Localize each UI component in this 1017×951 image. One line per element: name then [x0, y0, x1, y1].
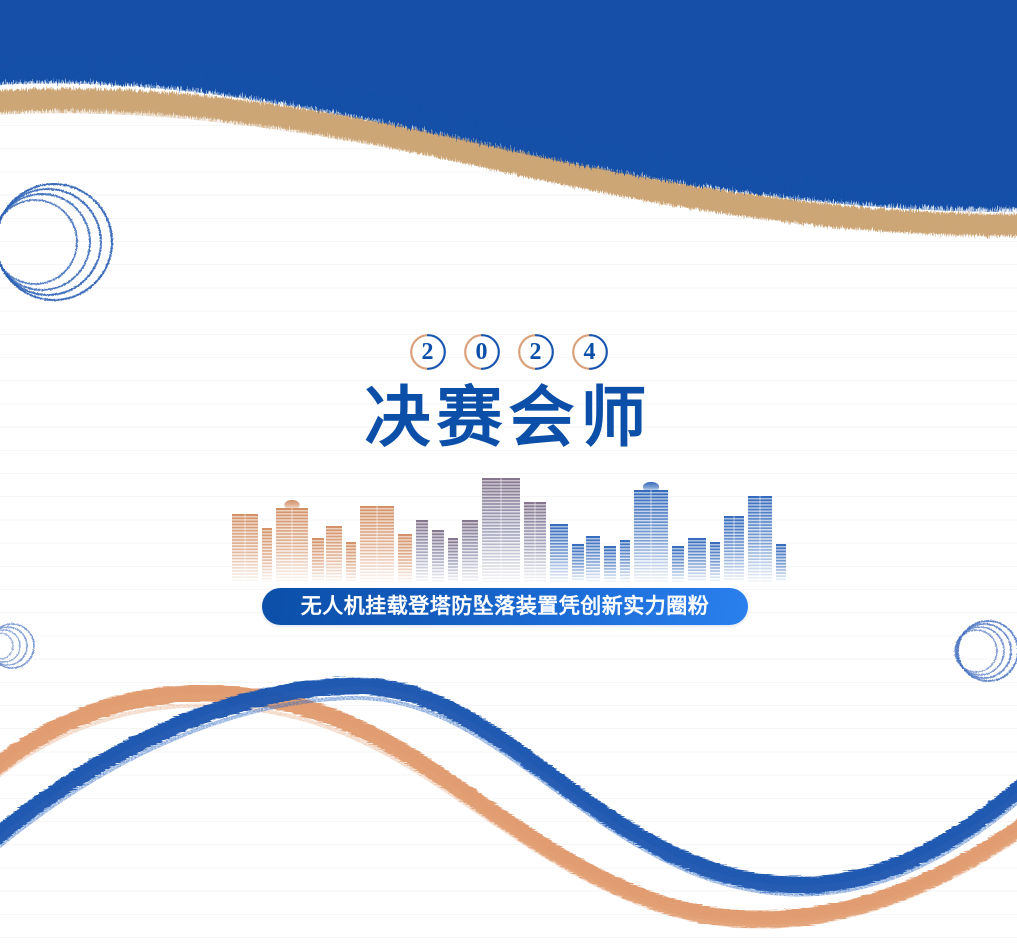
- year-2024: 2 0 2 4: [0, 328, 1017, 376]
- skyline-building: [672, 546, 685, 582]
- year-digit-1-label: 2: [422, 340, 434, 364]
- year-digit-1: 2: [409, 333, 447, 371]
- skyline-building: [312, 538, 325, 582]
- skyline-building: [748, 496, 773, 583]
- headline-banner-label: 无人机挂载登塔防坠落装置凭创新实力圈粉: [301, 596, 710, 617]
- year-digit-4-label: 4: [584, 340, 596, 364]
- year-digit-3-label: 2: [530, 340, 542, 364]
- skyline-building: [326, 526, 343, 582]
- skyline-building: [276, 500, 309, 583]
- city-skyline: [228, 470, 788, 588]
- poster-canvas: 2 0 2 4 决赛会师: [0, 0, 1017, 951]
- skyline-building: [550, 524, 569, 583]
- skyline-building: [448, 538, 459, 582]
- skyline-building: [688, 538, 707, 582]
- year-digit-4: 4: [571, 333, 609, 371]
- skyline-building: [710, 542, 721, 583]
- skyline-building: [232, 514, 259, 583]
- skyline-building: [482, 478, 521, 582]
- year-digit-3: 2: [517, 333, 555, 371]
- skyline-building: [634, 482, 669, 583]
- skyline-building: [620, 540, 631, 582]
- year-digit-2: 0: [463, 333, 501, 371]
- skyline-building: [724, 516, 745, 582]
- skyline-building: [432, 530, 445, 583]
- skyline-building: [776, 544, 787, 582]
- top-brush-band: [0, 0, 1017, 240]
- concentric-rings-large: [0, 172, 146, 312]
- skyline-building: [398, 534, 413, 582]
- skyline-building: [360, 506, 395, 582]
- skyline-building: [462, 520, 479, 582]
- skyline-building: [604, 546, 617, 582]
- skyline-building: [586, 536, 601, 583]
- skyline-building: [262, 528, 273, 582]
- headline-banner[interactable]: 无人机挂载登塔防坠落装置凭创新实力圈粉: [262, 588, 748, 625]
- page-title: 决赛会师: [0, 380, 1017, 456]
- skyline-building: [416, 520, 429, 582]
- skyline-building: [346, 542, 357, 583]
- skyline-building: [524, 502, 547, 583]
- bottom-brush-waves: [0, 660, 1017, 951]
- year-digit-2-label: 0: [476, 340, 488, 364]
- skyline-building: [572, 544, 585, 582]
